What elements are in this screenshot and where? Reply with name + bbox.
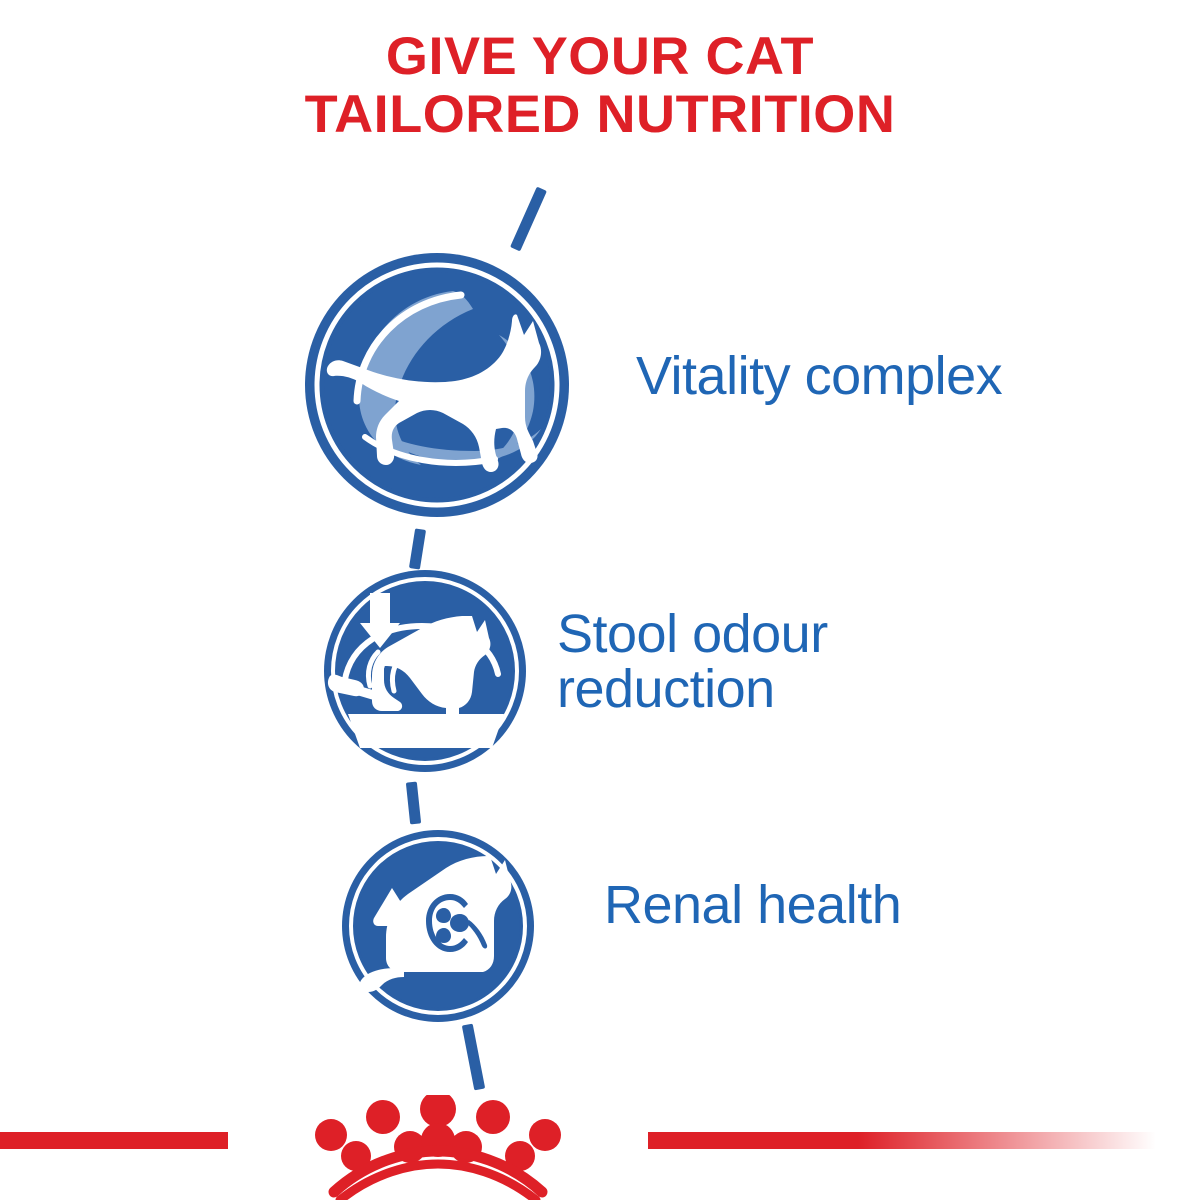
connector-dash-top: [510, 187, 547, 252]
walking-cat-circle-icon: [303, 251, 571, 519]
footer-bar-right: [648, 1132, 1200, 1149]
title-line-2: TAILORED NUTRITION: [0, 86, 1200, 144]
connector-dash-bottom: [462, 1024, 485, 1091]
connector-dash-2-3: [406, 782, 421, 825]
infographic-canvas: GIVE YOUR CAT TAILORED NUTRITION: [0, 0, 1200, 1200]
feature-label-line: reduction: [557, 662, 828, 717]
page-title: GIVE YOUR CAT TAILORED NUTRITION: [0, 28, 1200, 144]
title-line-1: GIVE YOUR CAT: [0, 28, 1200, 86]
royal-canin-crown-logo: [228, 1095, 648, 1200]
footer-bar-left: [0, 1132, 228, 1149]
feature-label-line: Stool odour: [557, 607, 828, 662]
connector-dash-1-2: [409, 528, 426, 569]
feature-label-line: Renal health: [604, 878, 901, 933]
cat-litter-box-odour-icon: [322, 568, 528, 774]
cat-kidney-icon: [340, 828, 536, 1024]
feature-label-vitality-complex: Vitality complex: [636, 349, 1002, 404]
feature-label-line: Vitality complex: [636, 349, 1002, 404]
feature-label-renal-health: Renal health: [604, 878, 901, 933]
feature-label-stool-odour-reduction: Stool odour reduction: [557, 607, 828, 717]
